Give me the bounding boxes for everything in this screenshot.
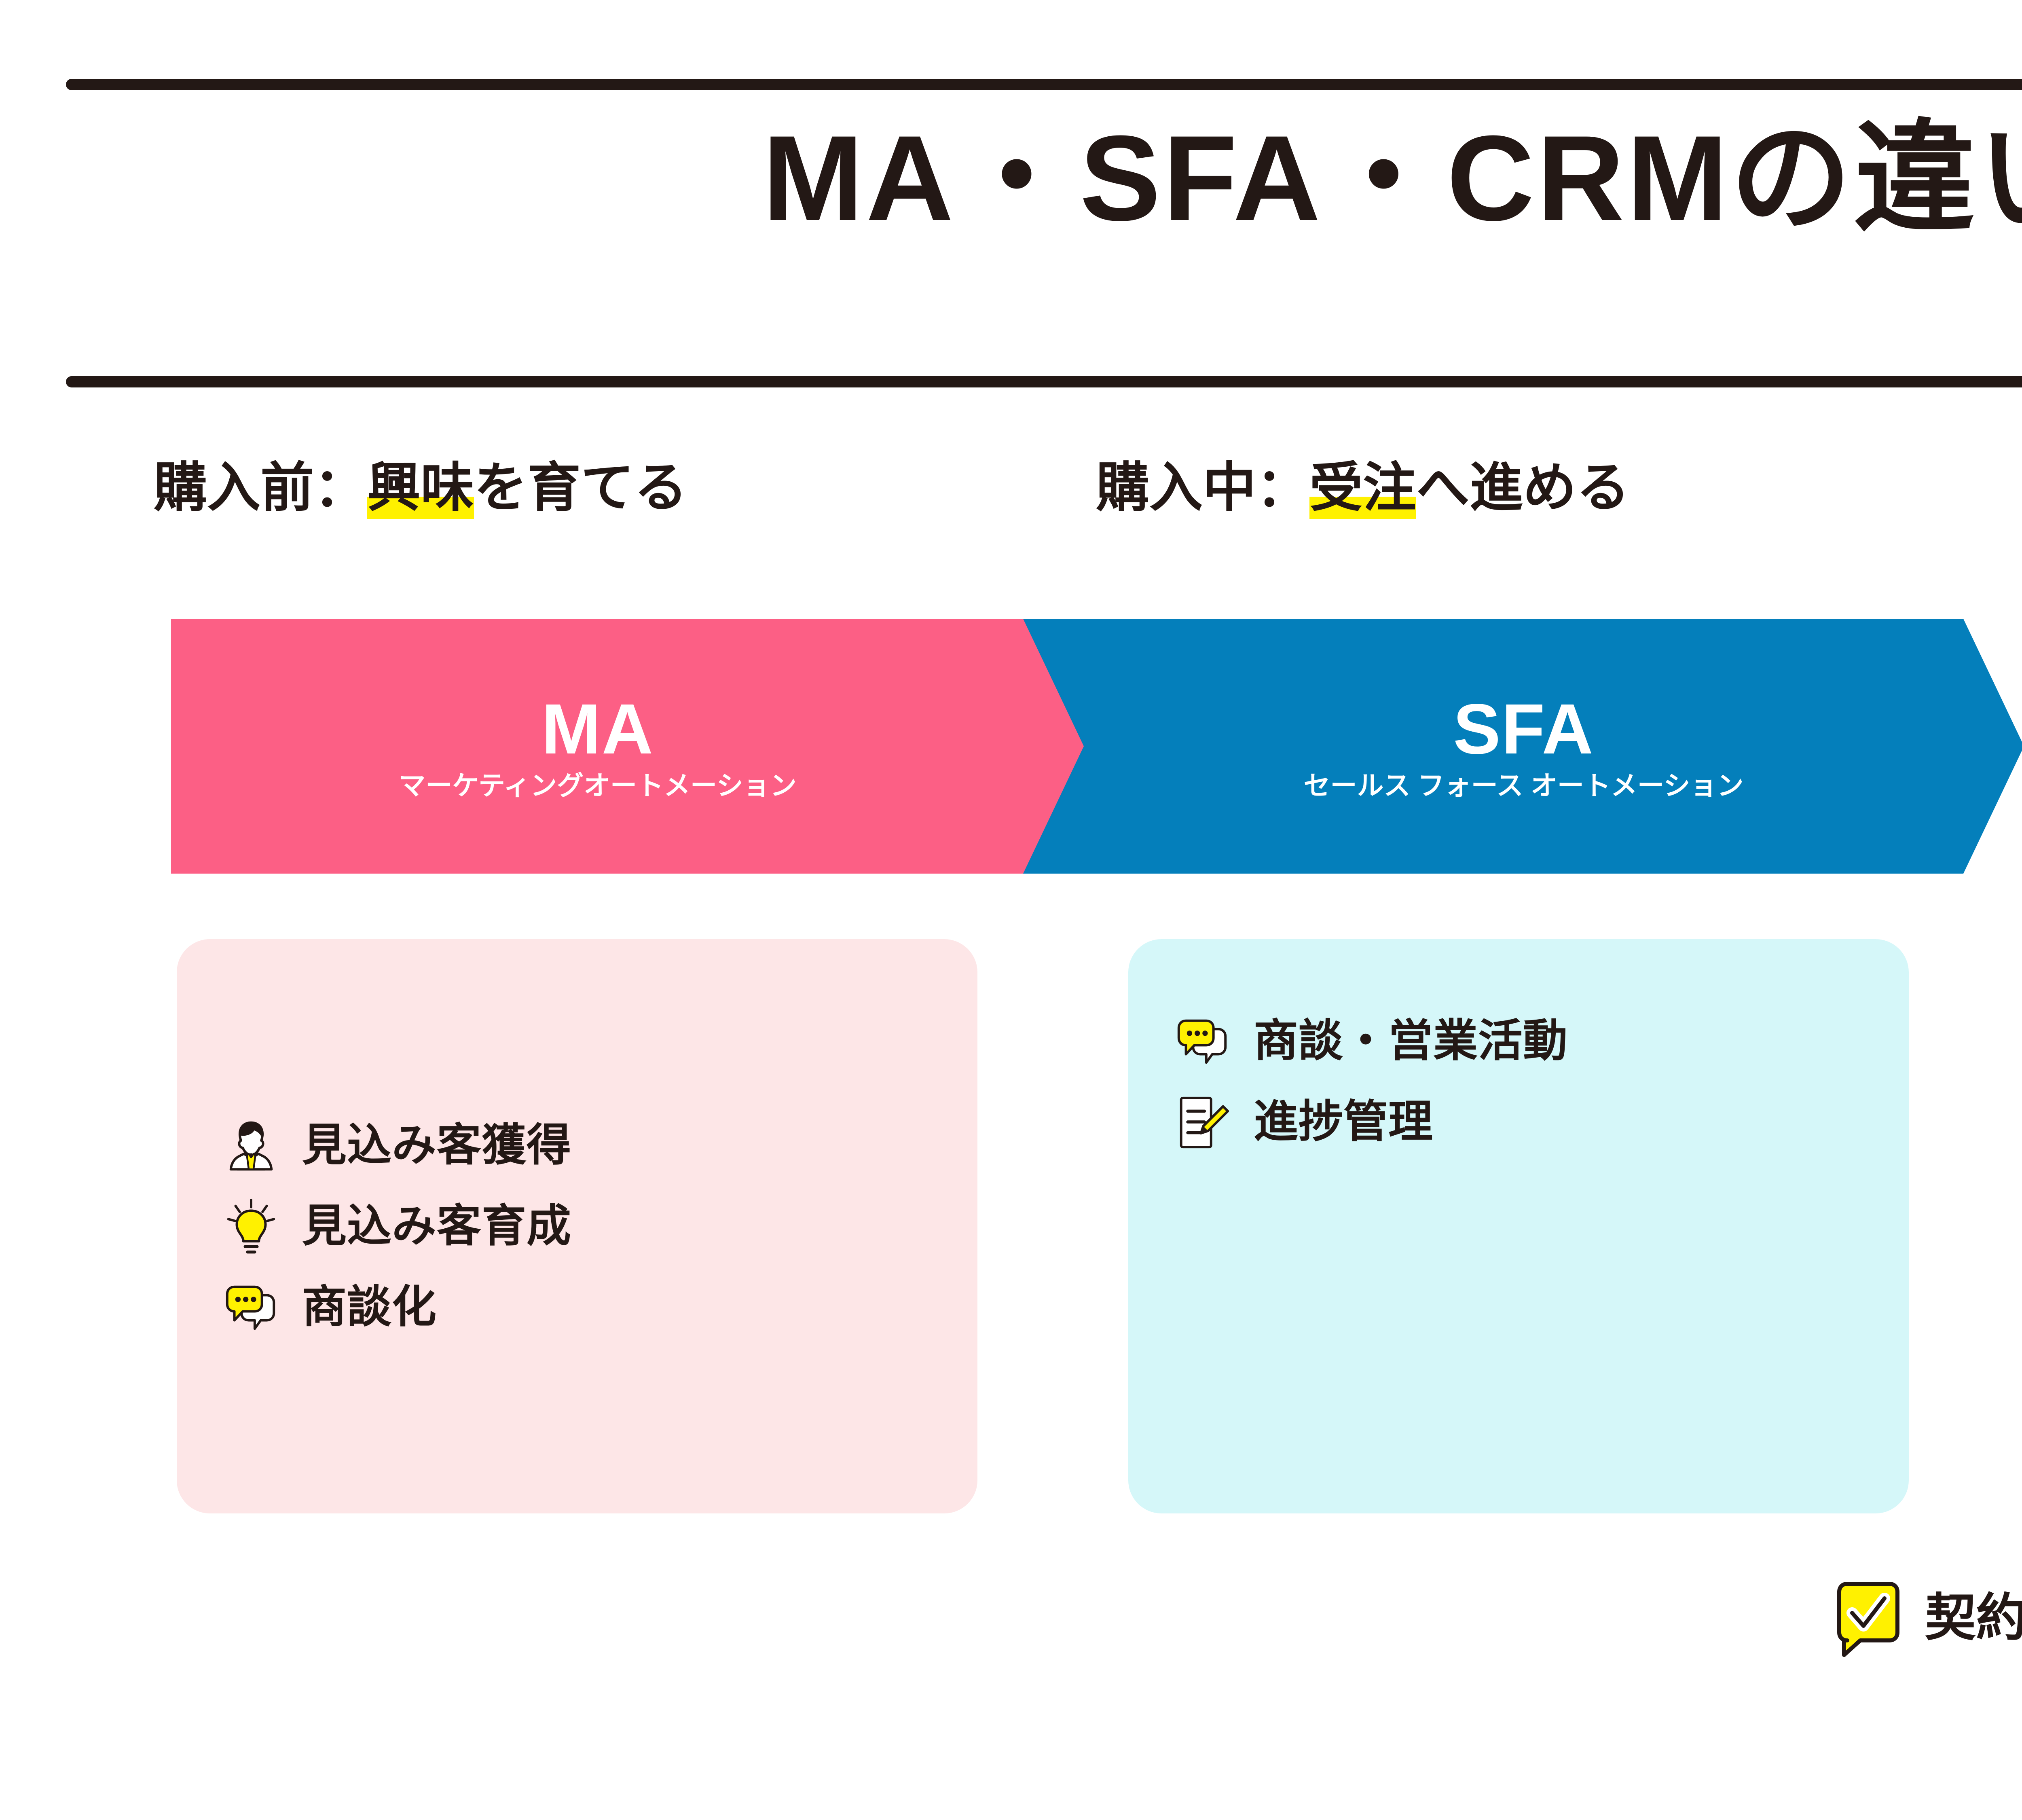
banner-sfa: SFA セールス フォース オートメーション	[1023, 619, 2022, 874]
feature-panel-ma: 見込み客獲得 見込み客育成	[177, 939, 977, 1513]
heading-suffix: を育てる	[474, 458, 687, 517]
person-icon	[221, 1115, 281, 1175]
badge-label: 契約・購入	[1925, 1592, 2022, 1643]
feature-label: 進捗管理	[1254, 1100, 1433, 1144]
title-rule-top	[66, 79, 2022, 90]
banner-subtitle-sfa: セールス フォース オートメーション	[1303, 772, 1743, 799]
feature-label: 見込み客獲得	[302, 1123, 571, 1168]
banner-ma: MA マーケティングオートメーション	[171, 619, 1085, 874]
feature-item: 商談化	[221, 1277, 933, 1337]
feature-label: 商談化	[302, 1285, 437, 1329]
feature-item: 進捗管理	[1173, 1092, 1864, 1152]
feature-item: 見込み客獲得	[221, 1115, 933, 1175]
feature-item: 商談・営業活動	[1173, 1011, 1864, 1071]
heading-highlight: 受注	[1309, 458, 1416, 519]
check-bubble-icon	[1828, 1577, 1909, 1658]
feature-label: 見込み客育成	[302, 1204, 571, 1249]
lightbulb-icon	[221, 1196, 281, 1256]
heading-highlight: 興味	[367, 458, 474, 519]
infographic-canvas: MA・SFA・CRMの違いとは？ 購入前：興味を育てる 購入中：受注へ進める 購…	[0, 0, 2022, 1820]
banner-subtitle-ma: マーケティングオートメーション	[399, 772, 796, 799]
heading-suffix: へ進める	[1416, 458, 1630, 517]
heading-prefix: 購入前：	[154, 458, 367, 517]
title-rule-bottom	[66, 376, 2022, 387]
speech-bubbles-icon	[221, 1277, 281, 1337]
document-pencil-icon	[1173, 1092, 1233, 1152]
feature-label: 商談・営業活動	[1254, 1019, 1568, 1063]
contract-purchase-badge: 契約・購入	[1828, 1577, 2022, 1658]
column-heading-sfa: 購入中：受注へ進める	[1096, 461, 1630, 514]
heading-prefix: 購入中：	[1096, 458, 1309, 517]
speech-bubbles-icon	[1173, 1011, 1233, 1071]
column-heading-ma: 購入前：興味を育てる	[154, 461, 687, 514]
banner-abbr-sfa: SFA	[1453, 694, 1594, 765]
page-title: MA・SFA・CRMの違いとは？	[0, 117, 2022, 239]
feature-panel-sfa: 商談・営業活動 進捗管理	[1128, 939, 1909, 1513]
banner-abbr-ma: MA	[541, 694, 654, 765]
feature-item: 見込み客育成	[221, 1196, 933, 1256]
